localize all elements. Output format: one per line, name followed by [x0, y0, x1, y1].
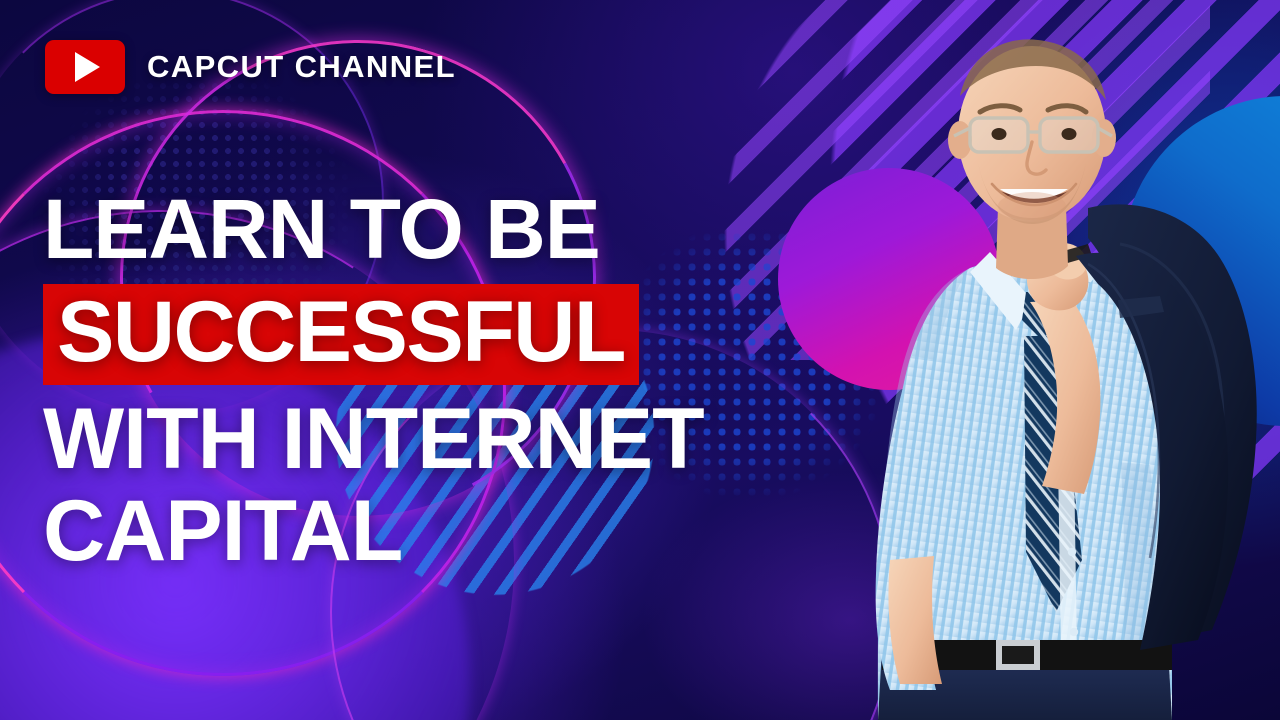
thumbnail-canvas: CAPCUT CHANNEL LEARN TO BE SUCCESSFUL WI…: [0, 0, 1280, 720]
headline-line-4: CAPITAL: [43, 489, 873, 573]
headline-block: LEARN TO BE SUCCESSFUL WITH INTERNET CAP…: [43, 188, 873, 573]
headline-highlight-bar: SUCCESSFUL: [43, 284, 639, 384]
headline-line-2: SUCCESSFUL: [57, 290, 625, 374]
headline-line-1: LEARN TO BE: [43, 188, 873, 270]
play-triangle: [75, 52, 100, 82]
businessman-portrait: [820, 0, 1280, 720]
headline-line-3: WITH INTERNET: [43, 397, 873, 481]
channel-name-label: CAPCUT CHANNEL: [147, 49, 456, 85]
channel-badge[interactable]: CAPCUT CHANNEL: [45, 40, 456, 94]
youtube-play-icon[interactable]: [45, 40, 125, 94]
